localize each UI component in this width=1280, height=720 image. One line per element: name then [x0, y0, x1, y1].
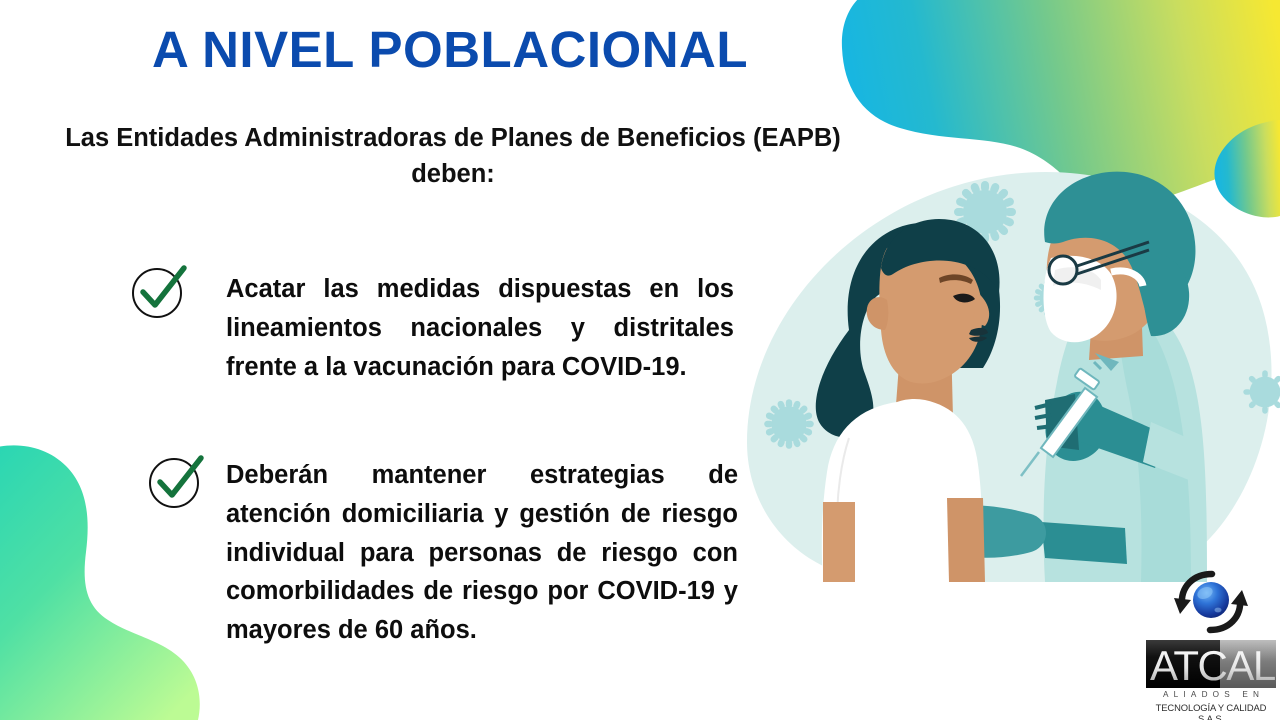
subtitle: Las Entidades Administradoras de Planes … [62, 120, 844, 192]
bullet-text-2: Deberán mantener estrategias de atención… [226, 456, 738, 650]
bullet-item-1: Acatar las medidas dispuestas en los lin… [128, 262, 742, 386]
slide-canvas: A NIVEL POBLACIONAL Las Entidades Admini… [0, 0, 1280, 720]
bullet-item-2: Deberán mantener estrategias de atención… [145, 452, 745, 650]
logo-tagline-1: ALIADOS EN [1146, 690, 1276, 699]
check-circle-icon [145, 452, 205, 512]
logo-tagline-2: TECNOLOGÍA Y CALIDAD S.A.S. [1146, 702, 1276, 720]
atcal-logo: ATCAL ATCAL ALIADOS EN TECNOLOGÍA Y CALI… [1146, 566, 1276, 716]
check-circle-icon [128, 262, 188, 322]
rotating-arrows-sphere-icon [1164, 566, 1258, 638]
page-title: A NIVEL POBLACIONAL [60, 22, 840, 77]
bullet-text-1: Acatar las medidas dispuestas en los lin… [226, 270, 734, 386]
vaccination-illustration [745, 150, 1280, 582]
atcal-wordmark: ATCAL ATCAL [1146, 640, 1276, 688]
